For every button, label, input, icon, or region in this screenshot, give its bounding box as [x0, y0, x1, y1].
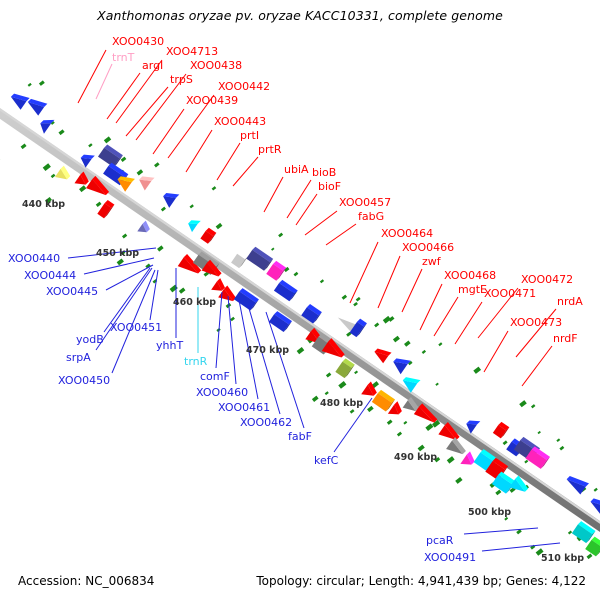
trna-tick [121, 157, 127, 162]
trna-tick [393, 336, 400, 343]
trna-tick [51, 174, 56, 178]
trna-tick [21, 144, 27, 150]
trna-tick [594, 488, 598, 492]
gene-label[interactable]: pcaR [426, 535, 453, 546]
gene-arrow-top [188, 220, 201, 224]
gene-glyph[interactable] [446, 437, 466, 454]
gene-glyph[interactable] [246, 247, 273, 271]
trna-tick [438, 342, 442, 346]
label-leader-line [522, 346, 552, 386]
label-leader-line [264, 177, 283, 212]
trna-tick [326, 372, 331, 377]
trna-tick [556, 438, 560, 442]
gene-arrow-face [163, 196, 176, 208]
trna-tick [170, 285, 178, 293]
trna-tick [354, 370, 358, 374]
label-leader-line [378, 256, 400, 308]
label-leader-line [96, 64, 112, 99]
trna-tick [559, 446, 564, 451]
trna-tick [58, 129, 64, 135]
trna-tick [161, 207, 166, 212]
trna-tick [271, 248, 274, 251]
gene-glyph[interactable] [28, 99, 48, 116]
accession-text: Accession: NC_006834 [18, 574, 154, 588]
trna-tick [587, 553, 593, 559]
label-leader-line [420, 284, 442, 330]
trna-tick [404, 341, 411, 347]
gene-label[interactable]: nrdF [553, 333, 578, 344]
gene-label[interactable]: XOO0457 [339, 197, 391, 208]
gene-label[interactable]: zwf [422, 256, 441, 267]
gene-label[interactable]: XOO0442 [218, 81, 270, 92]
gene-glyph[interactable] [274, 280, 298, 301]
gene-label[interactable]: XOO0444 [24, 270, 76, 281]
label-leader-line [350, 242, 378, 303]
label-leader-line [305, 211, 337, 235]
trna-tick [28, 83, 32, 87]
gene-label[interactable]: srpA [66, 352, 91, 363]
trna-tick [353, 302, 358, 306]
gene-glyph[interactable] [590, 498, 600, 514]
gene-label[interactable]: XOO0440 [8, 253, 60, 264]
trna-tick [455, 477, 462, 484]
trna-tick [179, 287, 186, 293]
trna-tick [320, 279, 324, 283]
gene-glyph[interactable] [188, 220, 201, 232]
gene-label[interactable]: trnT [112, 52, 134, 63]
trna-tick [447, 456, 455, 463]
gene-glyph[interactable] [11, 94, 30, 110]
gene-label[interactable]: XOO0460 [196, 387, 248, 398]
label-leader-line [402, 269, 422, 312]
gene-arrow-top [466, 421, 480, 425]
gene-label[interactable]: XOO0464 [381, 228, 433, 239]
trna-tick [524, 460, 528, 464]
gene-label[interactable]: XOO4713 [166, 46, 218, 57]
trna-tick [43, 163, 51, 171]
gene-label[interactable]: trpS [170, 74, 193, 85]
scale-marker: 500 kbp [468, 507, 511, 518]
gene-glyph[interactable] [393, 358, 411, 374]
topology-text: Topology: circular; Length: 4,941,439 bp… [256, 574, 586, 588]
gene-glyph[interactable] [137, 221, 150, 233]
genome-map-viewer: Xanthomonas oryzae pv. oryzae KACC10331,… [0, 0, 600, 600]
trna-tick [122, 233, 127, 238]
trna-tick [397, 432, 402, 437]
gene-arrow-face [188, 224, 197, 233]
label-leader-line [78, 50, 106, 103]
trna-tick [88, 143, 92, 147]
gene-label[interactable]: XOO0466 [402, 242, 454, 253]
status-bar: Accession: NC_006834 Topology: circular;… [0, 566, 600, 600]
gene-glyph[interactable] [40, 120, 54, 134]
trna-tick [387, 420, 393, 425]
scale-marker: 480 kbp [320, 398, 363, 409]
scale-marker: 490 kbp [394, 452, 437, 463]
trna-tick [278, 233, 283, 238]
gene-label[interactable]: XOO0450 [58, 375, 110, 386]
gene-glyph[interactable] [374, 349, 391, 364]
gene-glyph[interactable] [139, 176, 154, 190]
scale-marker: 470 kbp [246, 345, 289, 356]
label-leader-line [153, 109, 184, 154]
trna-tick [367, 406, 374, 412]
gene-label[interactable]: XOO0468 [444, 270, 496, 281]
trna-tick [39, 80, 45, 86]
gene-label[interactable]: ubiA [284, 164, 309, 175]
trna-tick [537, 431, 540, 434]
label-leader-line [217, 143, 240, 180]
gene-label[interactable]: bioB [312, 167, 336, 178]
trna-tick [425, 423, 433, 431]
trna-tick [503, 440, 508, 445]
gene-label[interactable]: prtI [240, 130, 259, 141]
gene-label[interactable]: yodB [76, 334, 104, 345]
gene-label[interactable]: fabG [358, 211, 384, 222]
gene-glyph[interactable] [335, 358, 354, 378]
label-leader-line [464, 528, 538, 534]
scale-marker: 460 kbp [173, 297, 216, 308]
trna-tick [350, 409, 355, 414]
trna-tick [473, 367, 481, 374]
gene-label[interactable]: XOO0462 [240, 417, 292, 428]
gene-glyph[interactable] [98, 144, 123, 167]
trna-tick [137, 169, 144, 175]
trna-tick [157, 245, 164, 251]
label-leader-line [233, 157, 258, 186]
trna-tick [418, 445, 425, 452]
label-leader-line [150, 270, 158, 320]
scale-marker: 450 kbp [96, 248, 139, 259]
label-leader-line [434, 297, 458, 336]
trna-tick [403, 421, 407, 425]
scale-marker: 440 kbp [22, 199, 65, 210]
gene-glyph[interactable] [493, 422, 509, 438]
trna-tick [216, 223, 223, 229]
gene-label[interactable]: trnR [184, 356, 207, 367]
gene-label[interactable]: XOO0430 [112, 36, 164, 47]
gene-label[interactable]: mgtE [458, 284, 487, 295]
trna-tick [356, 297, 361, 302]
trna-tick [230, 317, 235, 322]
gene-label[interactable]: XOO0443 [214, 116, 266, 127]
gene-label[interactable]: prtR [258, 144, 281, 155]
trna-tick [342, 295, 347, 300]
trna-tick [422, 350, 426, 354]
gene-label[interactable]: XOO0473 [510, 317, 562, 328]
gene-label[interactable]: XOO0471 [484, 288, 536, 299]
gene-label[interactable]: argI [142, 60, 163, 71]
gene-label[interactable]: XOO0491 [424, 552, 476, 563]
label-leader-line [287, 180, 311, 218]
gene-label[interactable]: XOO0472 [521, 274, 573, 285]
gene-label[interactable]: XOO0461 [218, 402, 270, 413]
trna-tick [325, 391, 329, 395]
trna-tick [338, 381, 346, 389]
gene-label[interactable]: yhhT [156, 340, 183, 351]
trna-tick [495, 490, 501, 496]
gene-label[interactable]: XOO0439 [186, 95, 238, 106]
gene-glyph[interactable] [163, 193, 179, 208]
gene-label[interactable]: bioF [318, 181, 341, 192]
gene-glyph[interactable] [211, 278, 225, 291]
trna-tick [190, 204, 194, 208]
gene-label[interactable]: XOO0451 [110, 322, 162, 333]
trna-tick [96, 202, 102, 207]
trna-tick [212, 186, 217, 190]
gene-glyph[interactable] [55, 166, 70, 180]
label-leader-line [84, 258, 154, 274]
gene-label[interactable]: XOO0445 [46, 286, 98, 297]
trna-tick [117, 258, 124, 265]
trna-tick [519, 400, 527, 407]
label-leader-line [186, 130, 212, 172]
gene-glyph[interactable] [231, 251, 248, 269]
gene-label[interactable]: kefC [314, 455, 338, 466]
label-leader-line [126, 87, 168, 136]
label-leader-line [482, 543, 560, 551]
trna-tick [435, 383, 439, 386]
trna-tick [374, 322, 379, 327]
gene-label[interactable]: nrdA [557, 296, 583, 307]
gene-glyph[interactable] [567, 476, 589, 494]
trna-tick [568, 531, 572, 535]
trna-tick [154, 162, 160, 167]
gene-label[interactable]: fabF [288, 431, 312, 442]
trna-tick [79, 185, 86, 192]
gene-label[interactable]: comF [200, 371, 230, 382]
scale-marker: 510 kbp [541, 553, 584, 564]
trna-tick [531, 404, 535, 408]
label-leader-line [326, 224, 356, 245]
gene-arrow-face [40, 123, 51, 134]
gene-glyph[interactable] [200, 228, 216, 244]
trna-tick [294, 272, 299, 277]
trna-tick [297, 347, 305, 354]
trna-tick [104, 136, 111, 143]
gene-label[interactable]: XOO0438 [190, 60, 242, 71]
gene-arrow-face [139, 180, 151, 191]
trna-tick [312, 396, 319, 402]
label-leader-line [484, 331, 508, 372]
